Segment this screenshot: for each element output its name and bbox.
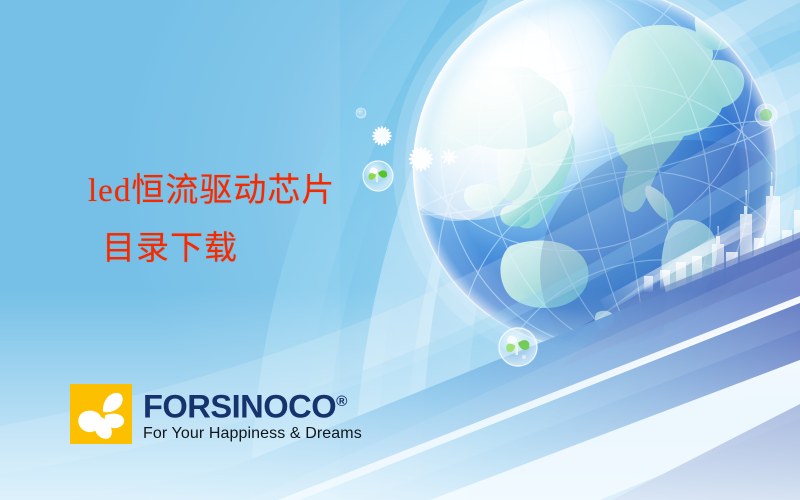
ribbon-group-top-right bbox=[505, 0, 800, 275]
light-streak bbox=[600, 216, 768, 310]
bubble-small bbox=[356, 108, 366, 118]
headline: led恒流驱动芯片 目录下载 bbox=[88, 162, 508, 278]
skyline-window-grid bbox=[741, 206, 780, 234]
bubble-with-sprout bbox=[499, 328, 537, 366]
logo-wordmark: FORSINOCO® For Your Happiness & Dreams bbox=[143, 384, 362, 443]
company-logo: FORSINOCO® For Your Happiness & Dreams bbox=[70, 384, 362, 444]
city-skyline-silhouette bbox=[644, 172, 800, 292]
headline-line-2: 目录下载 bbox=[88, 220, 508, 278]
bubble-small bbox=[755, 104, 777, 126]
four-petal-pinwheel-mark bbox=[70, 384, 132, 444]
sparkle-asterisk bbox=[372, 126, 392, 146]
company-tagline: For Your Happiness & Dreams bbox=[143, 424, 362, 443]
registered-trademark-icon: ® bbox=[336, 393, 347, 410]
company-name: FORSINOCO® bbox=[143, 385, 366, 424]
promo-banner: led恒流驱动芯片 目录下载 FORSINOCO® bbox=[0, 0, 800, 500]
headline-line-1: led恒流驱动芯片 bbox=[88, 162, 508, 220]
company-name-text: FORSINOCO bbox=[143, 389, 336, 425]
